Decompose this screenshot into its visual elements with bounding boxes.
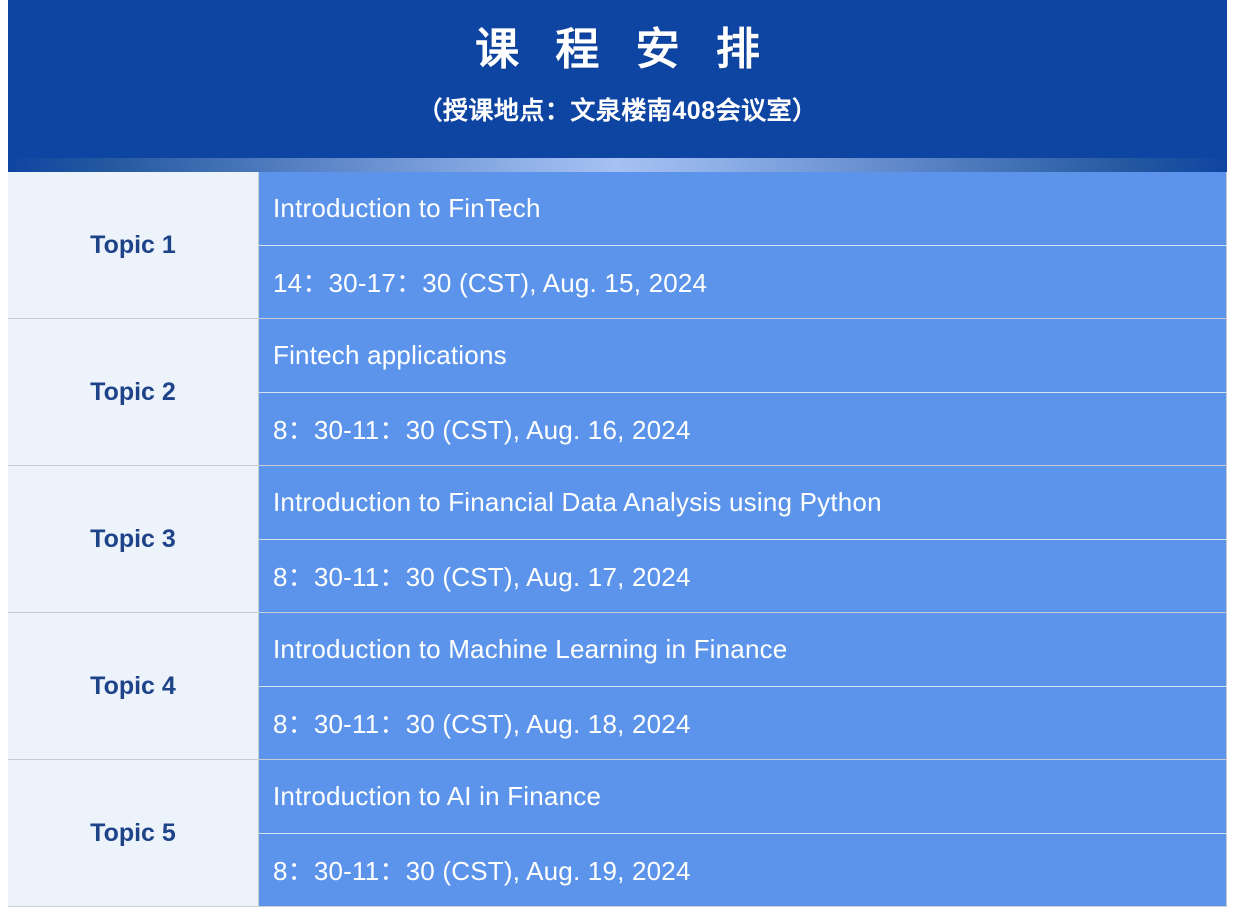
topic-title-3: Introduction to Financial Data Analysis … xyxy=(259,466,1227,540)
page-subtitle-venue: （授课地点：文泉楼南408会议室） xyxy=(8,95,1227,128)
topic-time-2: 8：30-11：30 (CST), Aug. 16, 2024 xyxy=(259,392,1227,466)
topic-title-5: Introduction to AI in Finance xyxy=(259,760,1227,834)
topic-time-1: 14：30-17：30 (CST), Aug. 15, 2024 xyxy=(259,245,1227,318)
table-row: Topic 2 Fintech applications xyxy=(8,319,1227,393)
table-row: Topic 3 Introduction to Financial Data A… xyxy=(8,466,1227,540)
topic-label-4: Topic 4 xyxy=(8,613,259,760)
table-row: Topic 4 Introduction to Machine Learning… xyxy=(8,613,1227,687)
table-row: Topic 5 Introduction to AI in Finance xyxy=(8,760,1227,834)
schedule-table: Topic 1 Introduction to FinTech 14：30-17… xyxy=(8,172,1227,907)
topic-time-3: 8：30-11：30 (CST), Aug. 17, 2024 xyxy=(259,539,1227,613)
topic-label-1: Topic 1 xyxy=(8,172,259,319)
schedule-table-body: Topic 1 Introduction to FinTech 14：30-17… xyxy=(8,172,1227,907)
banner-gradient-divider xyxy=(8,158,1227,172)
topic-title-1: Introduction to FinTech xyxy=(259,172,1227,245)
page-title: 课 程 安 排 xyxy=(8,22,1227,77)
table-row: Topic 1 Introduction to FinTech xyxy=(8,172,1227,245)
topic-label-5: Topic 5 xyxy=(8,760,259,907)
header-banner: 课 程 安 排 （授课地点：文泉楼南408会议室） xyxy=(8,0,1227,172)
topic-label-3: Topic 3 xyxy=(8,466,259,613)
topic-title-2: Fintech applications xyxy=(259,319,1227,393)
topic-title-4: Introduction to Machine Learning in Fina… xyxy=(259,613,1227,687)
topic-time-4: 8：30-11：30 (CST), Aug. 18, 2024 xyxy=(259,686,1227,760)
course-schedule-page: 课 程 安 排 （授课地点：文泉楼南408会议室） Topic 1 Introd… xyxy=(0,0,1237,921)
topic-label-2: Topic 2 xyxy=(8,319,259,466)
topic-time-5: 8：30-11：30 (CST), Aug. 19, 2024 xyxy=(259,833,1227,907)
